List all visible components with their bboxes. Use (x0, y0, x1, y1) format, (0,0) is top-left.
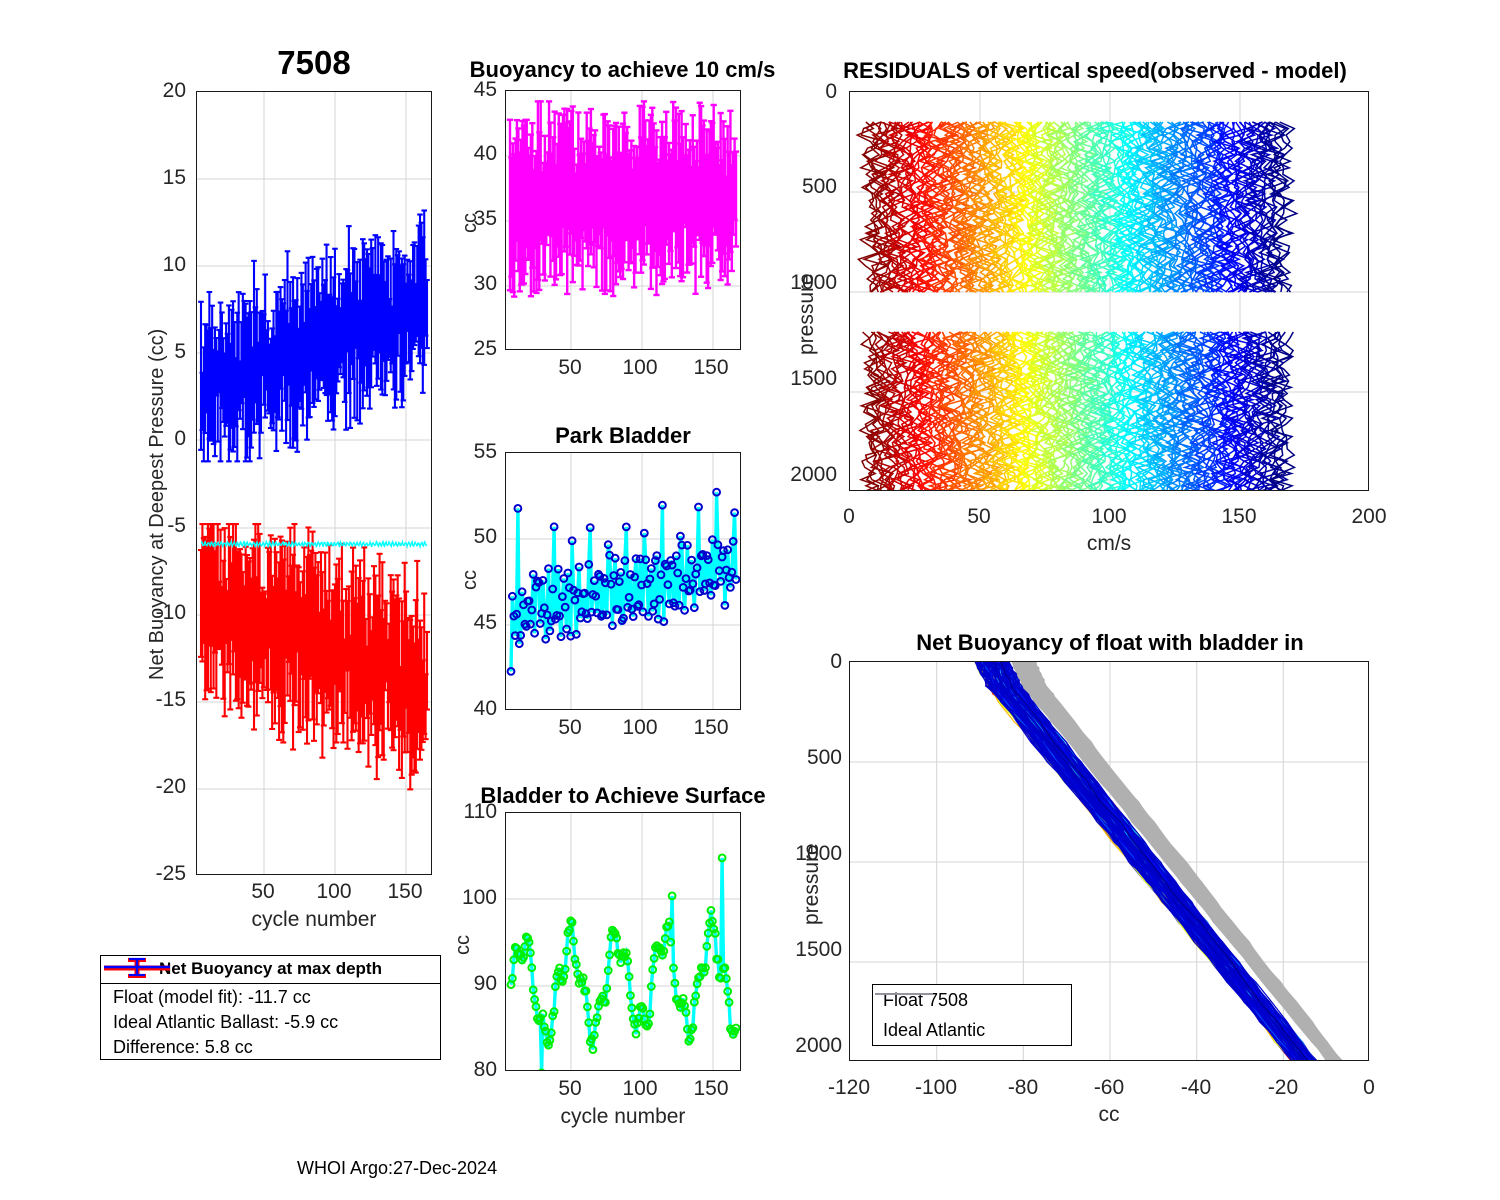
panel5-axes (849, 91, 1369, 491)
panel3-xtick-50: 50 (541, 716, 599, 740)
panel6-ytick-1500: 1500 (765, 938, 842, 962)
panel5-xtick-100: 100 (1079, 505, 1139, 529)
panel3-axes (505, 452, 741, 710)
panel6-legend-label-ideal: Ideal Atlantic (883, 1020, 985, 1041)
panel1-ytick-m5: -5 (120, 514, 186, 538)
panel6-title: Net Buoyancy of float with bladder in (850, 630, 1370, 656)
panel6-xtick-m80: -80 (993, 1076, 1053, 1100)
panel6-ytick-1000: 1000 (765, 842, 842, 866)
panel1-ytick-5: 5 (120, 340, 186, 364)
panel4-plot (506, 813, 741, 1071)
panel4-xtick-100: 100 (611, 1077, 669, 1101)
panel5-title: RESIDUALS of vertical speed(observed - m… (805, 58, 1385, 84)
panel2-plot (506, 91, 741, 350)
panel6-xtick-m120: -120 (819, 1076, 879, 1100)
panel1-ytick-m20: -20 (120, 775, 186, 799)
panel5-ytick-500: 500 (760, 175, 837, 199)
panel2-xtick-100: 100 (611, 356, 669, 380)
legend-label-ideal: Ideal Atlantic Ballast: -5.9 cc (113, 1012, 338, 1033)
panel4-title: Bladder to Achieve Surface (465, 783, 781, 809)
panel5-plot (850, 92, 1369, 491)
panel1-xtick-100: 100 (304, 880, 364, 904)
panel6-ytick-500: 500 (765, 746, 842, 770)
panel1-legend: Net Buoyancy at max depth Float (model f… (100, 955, 441, 1060)
panel1-ytick-m10: -10 (120, 601, 186, 625)
panel3-ylabel: cc (459, 570, 482, 590)
panel4-ylabel: cc (452, 935, 475, 955)
panel6-ytick-0: 0 (765, 650, 842, 674)
panel6-xtick-m60: -60 (1079, 1076, 1139, 1100)
panel6-xtick-m100: -100 (906, 1076, 966, 1100)
panel3-xtick-100: 100 (611, 716, 669, 740)
panel1-ylabel: Net Buoyancy at Deepest Pressure (cc) (146, 329, 169, 680)
legend-item-ideal: Ideal Atlantic Ballast: -5.9 cc (101, 1010, 440, 1035)
panel5-ytick-2000: 2000 (760, 463, 837, 487)
panel2-ytick-35: 35 (455, 207, 497, 231)
panel1-ytick-m15: -15 (120, 688, 186, 712)
panel2-xtick-50: 50 (541, 356, 599, 380)
panel3-plot (506, 453, 741, 710)
panel5-xtick-50: 50 (949, 505, 1009, 529)
panel1-title: 7508 (196, 44, 432, 82)
panel6-xtick-0: 0 (1339, 1076, 1399, 1100)
panel1-ytick-0: 0 (120, 427, 186, 451)
legend-item-difference: Difference: 5.8 cc (101, 1035, 440, 1060)
panel3-title: Park Bladder (505, 423, 741, 449)
panel2-ytick-30: 30 (455, 272, 497, 296)
panel2-ytick-40: 40 (455, 142, 497, 166)
panel5-xtick-200: 200 (1339, 505, 1399, 529)
panel1-xtick-50: 50 (233, 880, 293, 904)
panel5-ytick-1500: 1500 (760, 367, 837, 391)
panel4-ytick-80: 80 (440, 1058, 497, 1082)
legend-label-difference: Difference: 5.8 cc (113, 1037, 253, 1058)
panel1-axes (196, 91, 432, 875)
panel5-xlabel: cm/s (849, 532, 1369, 556)
panel4-ytick-110: 110 (440, 800, 497, 824)
legend-item-float: Float (model fit): -11.7 cc (101, 984, 440, 1010)
panel2-ytick-45: 45 (455, 78, 497, 102)
panel6-xtick-m20: -20 (1253, 1076, 1313, 1100)
panel4-ytick-100: 100 (440, 886, 497, 910)
panel5-ytick-1000: 1000 (760, 271, 837, 295)
panel2-xtick-150: 150 (682, 356, 740, 380)
panel2-axes (505, 90, 741, 350)
panel4-xtick-150: 150 (682, 1077, 740, 1101)
panel3-ytick-55: 55 (455, 440, 497, 464)
panel6-ytick-2000: 2000 (765, 1034, 842, 1058)
panel1-plot (197, 92, 432, 875)
panel6-legend-item-ideal: Ideal Atlantic (873, 1015, 1071, 1045)
panel4-axes (505, 812, 741, 1071)
panel1-xtick-150: 150 (375, 880, 435, 904)
panel6-legend: Float 7508 Ideal Atlantic (872, 984, 1072, 1046)
panel5-ytick-0: 0 (760, 80, 837, 104)
panel3-xtick-150: 150 (682, 716, 740, 740)
legend-label-float: Float (model fit): -11.7 cc (113, 987, 311, 1008)
panel6-xlabel: cc (849, 1103, 1369, 1127)
panel6-xtick-m40: -40 (1166, 1076, 1226, 1100)
panel1-xlabel: cycle number (196, 908, 432, 932)
panel2-ytick-25: 25 (455, 337, 497, 361)
panel4-ytick-90: 90 (440, 972, 497, 996)
panel4-xtick-50: 50 (541, 1077, 599, 1101)
panel1-ytick-20: 20 (120, 79, 186, 103)
panel5-xtick-150: 150 (1209, 505, 1269, 529)
panel1-ytick-10: 10 (120, 253, 186, 277)
panel2-title: Buoyancy to achieve 10 cm/s (455, 57, 790, 83)
panel3-ytick-40: 40 (455, 697, 497, 721)
panel1-ytick-15: 15 (120, 166, 186, 190)
legend-line-gray-icon (873, 985, 935, 1003)
panel5-xtick-0: 0 (819, 505, 879, 529)
panel4-xlabel: cycle number (505, 1105, 741, 1129)
panel3-ytick-45: 45 (455, 611, 497, 635)
panel1-ytick-m25: -25 (120, 862, 186, 886)
footer-credit: WHOI Argo:27-Dec-2024 (297, 1158, 497, 1179)
legend-errorbar-blue-icon (101, 956, 173, 978)
panel3-ytick-50: 50 (455, 525, 497, 549)
